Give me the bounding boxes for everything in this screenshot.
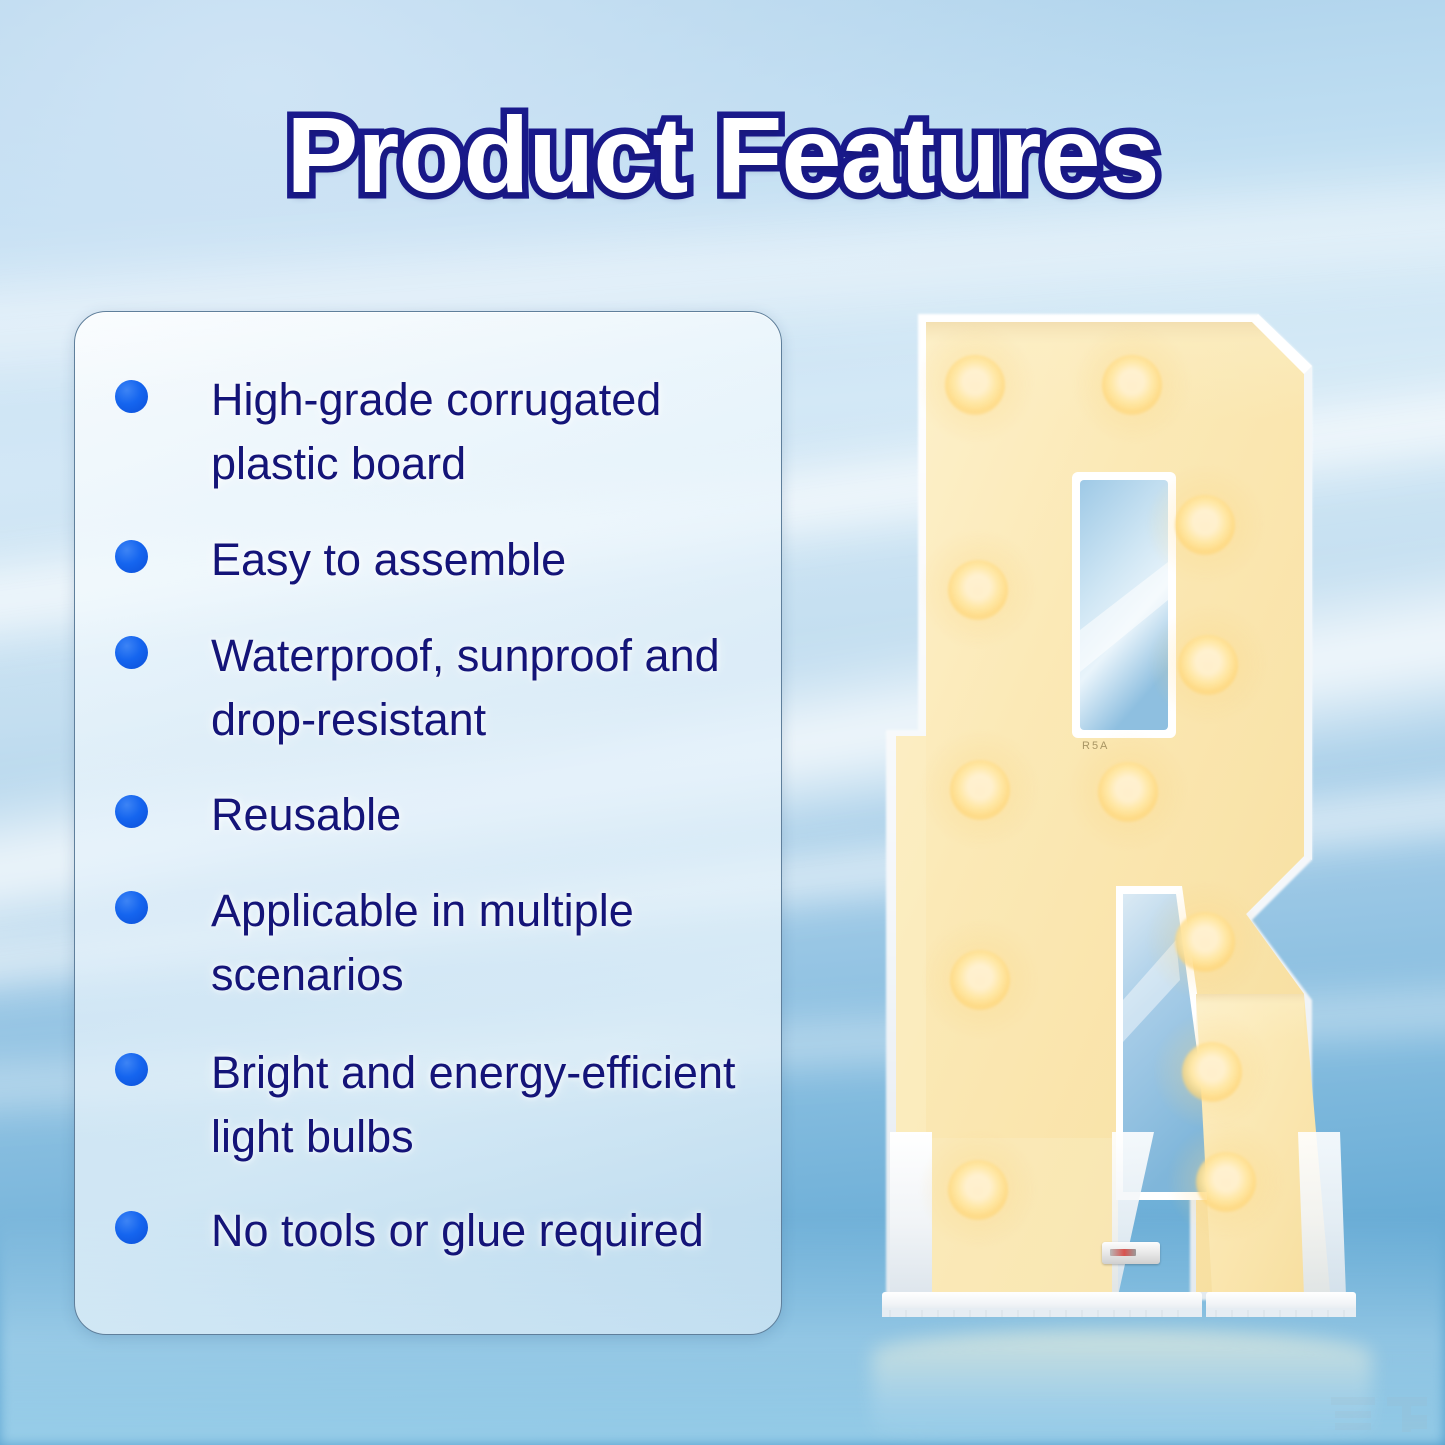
bullet-icon	[115, 380, 148, 413]
letter-r-shape	[860, 300, 1380, 1360]
list-item: Waterproof, sunproof and drop-resistant	[115, 624, 759, 752]
feature-list-card: High-grade corrugated plastic board Easy…	[74, 311, 782, 1335]
bullet-icon	[115, 540, 148, 573]
marquee-letter-r: R5A	[860, 300, 1380, 1360]
bullet-icon	[115, 1053, 148, 1086]
page-title: Product Features	[0, 92, 1445, 217]
feature-text: Bright and energy-efficient light bulbs	[211, 1041, 736, 1169]
feature-text: Easy to assemble	[211, 528, 566, 592]
battery-box	[1102, 1242, 1160, 1264]
list-item: No tools or glue required	[115, 1199, 759, 1263]
watermark-logo	[1325, 1375, 1437, 1441]
list-item: Easy to assemble	[115, 528, 759, 592]
product-feature-image: Product Features High-grade corrugated p…	[0, 0, 1445, 1445]
feature-text: High-grade corrugated plastic board	[211, 368, 661, 496]
feature-text: No tools or glue required	[211, 1199, 704, 1263]
bullet-icon	[115, 891, 148, 924]
feature-text: Waterproof, sunproof and drop-resistant	[211, 624, 720, 752]
list-item: Reusable	[115, 783, 759, 847]
product-marking-label: R5A	[1082, 740, 1109, 752]
product-photo: R5A	[860, 300, 1380, 1370]
feature-text: Applicable in multiple scenarios	[211, 879, 634, 1007]
bullet-icon	[115, 1211, 148, 1244]
list-item: High-grade corrugated plastic board	[115, 368, 759, 496]
bullet-icon	[115, 795, 148, 828]
list-item: Applicable in multiple scenarios	[115, 879, 759, 1007]
feature-text: Reusable	[211, 783, 401, 847]
feature-list: High-grade corrugated plastic board Easy…	[75, 312, 781, 1334]
bullet-icon	[115, 636, 148, 669]
list-item: Bright and energy-efficient light bulbs	[115, 1041, 759, 1169]
